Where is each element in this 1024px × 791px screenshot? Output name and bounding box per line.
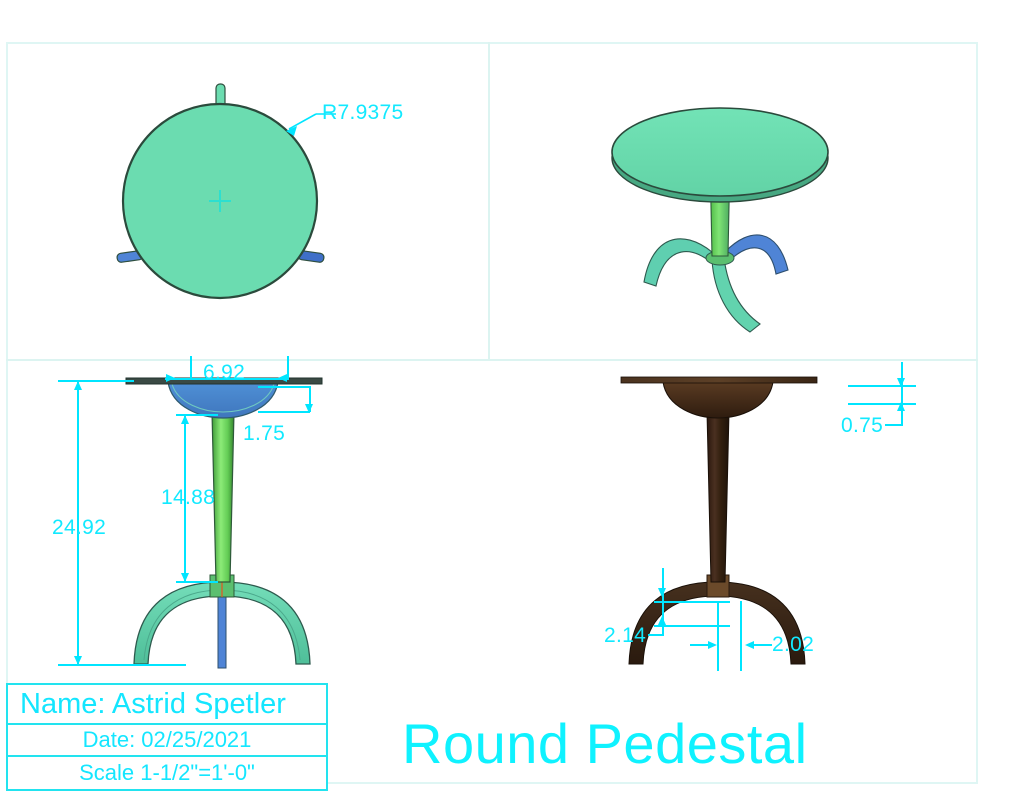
dim-2-14-arrow-bot [658, 616, 666, 625]
dim-2-14-ext-top [654, 601, 730, 603]
front-view-shaded [110, 372, 360, 672]
dim-0-75-ext-top [848, 385, 916, 387]
dim-14-88-arrow-top [181, 415, 189, 424]
dim-2-02-ext-right [740, 601, 742, 671]
dim-2-14-leader [648, 634, 664, 636]
sheet-title: Round Pedestal [402, 716, 808, 772]
iso-leg-back-right [725, 235, 788, 274]
dim-0-75-line [901, 362, 903, 424]
dim-14-88-ext-top [176, 414, 218, 416]
title-block-date-row: Date: 02/25/2021 [8, 725, 326, 757]
title-block: Name: Astrid Spetler Date: 02/25/2021 Sc… [6, 683, 328, 791]
dim-6-92-ext-left [190, 356, 192, 380]
dim-1-75-ext-top [258, 386, 310, 388]
drawing-sheet: R7.9375 [0, 0, 1024, 791]
dim-1-75-arrow [305, 404, 313, 413]
viewport-divider-vertical [488, 42, 490, 360]
dim-2-02-ext-left [717, 601, 719, 671]
dim-1-75: 1.75 [243, 423, 285, 444]
dim-6-92: 6.92 [203, 362, 245, 383]
title-block-name: Name: Astrid Spetler [20, 688, 286, 721]
dim-0-75-arrow-bot [897, 402, 905, 411]
rendered-column [707, 412, 729, 582]
dim-0-75-arrow-top [897, 378, 905, 387]
rendered-apron [663, 382, 773, 418]
dim-2-14-arrow-top [658, 588, 666, 597]
title-block-scale-row: Scale 1-1/2"=1'-0" [8, 757, 326, 789]
dim-24-92-ext-top [58, 380, 134, 382]
dim-14-88: 14.88 [161, 487, 215, 508]
iso-tabletop [612, 108, 828, 196]
dim-6-92-arrow-right [278, 374, 287, 382]
dim-24-92: 24.92 [52, 517, 106, 538]
sheet-border-top [6, 42, 978, 44]
dim-1-75-ext-bot [258, 411, 310, 413]
sheet-border-left [6, 42, 8, 784]
dim-2-14-ext-bot [654, 625, 730, 627]
isometric-view [600, 60, 890, 330]
rendered-tabletop [621, 377, 817, 383]
iso-leg-back-left [644, 239, 712, 286]
title-block-date: Date: 02/25/2021 [83, 727, 252, 753]
title-block-scale: Scale 1-1/2"=1'-0" [79, 760, 255, 786]
dim-0-75-leader [885, 424, 903, 426]
viewport-divider-horizontal [6, 359, 978, 361]
dim-0-75: 0.75 [841, 415, 883, 436]
dim-2-02-lead-left [690, 644, 712, 646]
dim-r7-9375: R7.9375 [322, 102, 404, 123]
shaded-column [212, 412, 234, 582]
dim-6-92-ext-right [287, 356, 289, 380]
dim-0-75-ext-bot [848, 403, 916, 405]
sheet-border-right [976, 42, 978, 784]
dim-2-02-lead-right [752, 644, 772, 646]
dim-2-02: 2.02 [772, 634, 814, 655]
dim-24-92-arrow-top [74, 381, 82, 390]
title-block-name-row: Name: Astrid Spetler [8, 685, 326, 725]
iso-leg-front [712, 258, 760, 332]
dim-2-14: 2.14 [604, 625, 646, 646]
dim-6-92-arrow-left [166, 374, 175, 382]
dim-24-92-ext-bot [58, 664, 186, 666]
dim-14-88-ext-bot [176, 581, 218, 583]
